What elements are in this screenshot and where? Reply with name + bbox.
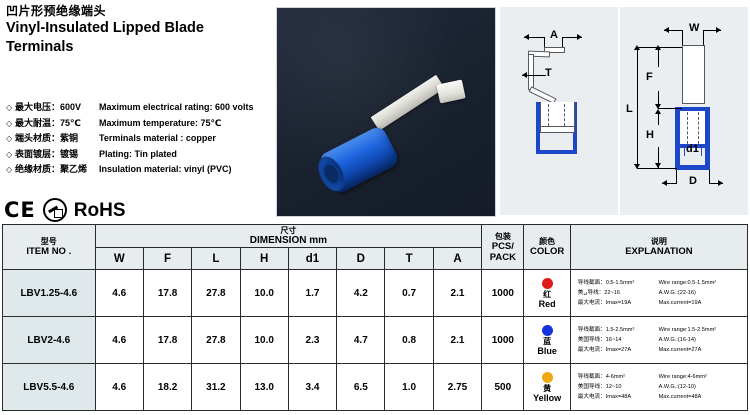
cell-d: 4.7 [337,317,385,364]
spec-item: ◇ 表面镀层：镀锡 Plating: Tin plated [6,147,268,163]
expl-cn-2: 美国导线：16~14 [577,335,658,345]
title-english-line1: Vinyl-Insulated Lipped Blade [6,20,264,37]
expl-en-2: A.W.G.:(16-14) [658,335,745,345]
ext-line-d1-2 [701,145,702,156]
dash-line-3 [687,112,688,144]
cell-color: 黄 Yellow [524,364,570,411]
expl-cn-1: 导线截面：1.5-2.5mm² [577,325,658,335]
expl-en-3: Max.current=48A [658,392,745,402]
cell-l: 27.8 [192,270,240,317]
certification-marks: CE RoHS [4,198,126,222]
title-chinese: 凹片形预绝缘端头 [6,4,264,18]
header-pack: 包装 PCS/ PACK [482,225,524,270]
arrow-down-H [655,163,661,168]
barrel-bottom [536,150,577,154]
cell-d1: 2.3 [288,317,336,364]
color-label-en: Yellow [524,393,569,403]
dim-line-T2 [522,75,532,76]
blade-group [375,88,471,148]
bullet-icon: ◇ [6,165,15,174]
expl-en-3: Max.current=19A [658,298,745,308]
spec-item: ◇ 最大电压：600V Maximum electrical rating: 6… [6,100,268,116]
ext-line-D-1 [676,170,677,184]
header-pack-en-2: PACK [482,252,523,263]
color-dot-icon [542,278,553,289]
dim-label-H: H [646,129,654,141]
product-spec-sheet: 凹片形预绝缘端头 Vinyl-Insulated Lipped Blade Te… [0,0,750,415]
barrel-metal-insert [540,102,575,127]
dim-label-D: D [689,175,697,187]
cell-w: 4.6 [95,317,143,364]
header-color-en: COLOR [524,246,569,257]
expl-cn-3: 最大电流：Imax=19A [577,298,658,308]
product-photo [276,7,496,217]
ext-line-W-2 [703,30,704,45]
blade-shaft [682,51,705,104]
cell-pack: 500 [482,364,524,411]
arrow-right-W [716,27,721,33]
table-row: LBV5.5-4.6 4.6 18.2 31.2 13.0 3.4 6.5 1.… [3,364,748,411]
spec-label-chinese: 最大耐温：75℃ [15,116,99,129]
barrel-crimp-band [540,126,575,133]
bullet-icon: ◇ [6,150,15,159]
dim-label-W: W [689,22,699,34]
cell-l: 27.8 [192,317,240,364]
spec-label-english: Terminals material : copper [99,133,216,143]
cell-w: 4.6 [95,364,143,411]
blade-tip [436,80,465,104]
cell-explanation: 导线截面：0.5-1.5mm² Wire range:0.5-1.5mm² 美ں… [570,270,747,317]
header-dimension-en: DIMENSION mm [96,235,482,246]
cell-t: 0.8 [385,317,433,364]
header-color: 颜色 COLOR [524,225,570,270]
cell-item-no: LBV2-4.6 [3,317,96,364]
table-row: LBV1.25-4.6 4.6 17.8 27.8 10.0 1.7 4.2 0… [3,270,748,317]
dim-line-T [532,75,546,76]
title-english-line2: Terminals [6,39,264,56]
cell-w: 4.6 [95,270,143,317]
title-block: 凹片形预绝缘端头 Vinyl-Insulated Lipped Blade Te… [6,4,264,55]
header-col-h: H [240,248,288,270]
header-dimension: 尺寸 DIMENSION mm [95,225,482,248]
dim-label-T: T [545,67,552,79]
insulation-bottom [675,165,710,170]
side-view-drawing: A T [500,7,618,215]
cell-explanation: 导线截面：1.5-2.5mm² Wire range:1.5-2.5mm² 美国… [570,317,747,364]
spec-item: ◇ 端头材质：紫铜 Terminals material : copper [6,131,268,147]
cell-f: 17.8 [143,270,191,317]
bullet-icon: ◇ [6,103,15,112]
table-header-row-1: 型号 ITEM NO . 尺寸 DIMENSION mm 包装 PCS/ PAC… [3,225,748,248]
front-view-drawing: W d1 D [620,7,748,215]
header-col-d1: d1 [288,248,336,270]
header-color-cn: 颜色 [524,237,569,246]
cell-item-no: LBV1.25-4.6 [3,270,96,317]
cell-l: 31.2 [192,364,240,411]
top-section: 凹片形预绝缘端头 Vinyl-Insulated Lipped Blade Te… [0,0,750,224]
cell-pack: 1000 [482,270,524,317]
ext-line-D-2 [709,170,710,184]
cell-item-no: LBV5.5-4.6 [3,364,96,411]
expl-cn-3: 最大电流：Imax=27A [577,345,658,355]
spec-label-chinese: 端头材质：紫铜 [15,131,99,144]
cell-h: 10.0 [240,270,288,317]
header-item-en: ITEM NO . [3,246,95,257]
header-pack-en-1: PCS/ [482,241,523,252]
cell-color: 蓝 Blue [524,317,570,364]
ce-icon: CE [4,200,36,221]
dash-line-1 [548,104,549,126]
table-row: LBV2-4.6 4.6 17.8 27.8 10.0 2.3 4.7 0.8 … [3,317,748,364]
arrow-left-A [524,34,529,40]
cell-h: 10.0 [240,317,288,364]
header-explanation: 说明 EXPLANATION [570,225,747,270]
spec-label-chinese: 表面镀层：镀锡 [15,147,99,160]
color-label-cn: 红 [524,290,569,299]
cell-a: 2.1 [433,270,481,317]
expl-en-1: Wire range:1.5-2.5mm² [658,325,745,335]
ext-line-L-bottom [637,168,677,169]
cell-d: 6.5 [337,364,385,411]
expl-cn-1: 导线截面：4-6mm² [577,372,658,382]
arrow-up-H [655,109,661,114]
spec-label-english: Maximum electrical rating: 600 volts [99,102,254,112]
color-label-en: Blue [524,346,569,356]
cell-d: 4.2 [337,270,385,317]
color-label-cn: 黄 [524,384,569,393]
cell-h: 13.0 [240,364,288,411]
dash-line-2 [564,104,565,126]
arrow-right-A [577,34,582,40]
cell-d1: 1.7 [288,270,336,317]
arrow-up-F [655,45,661,50]
spec-label-english: Insulation material: vinyl (PVC) [99,164,232,174]
header-item-cn: 型号 [3,237,95,246]
arrow-right-D [718,180,723,186]
spec-label-english: Plating: Tin plated [99,149,177,159]
dim-line-F-top [658,47,659,67]
color-dot-icon [542,325,553,336]
expl-cn-2: 美ں导线：22~16 [577,288,658,298]
dim-line-L [637,47,638,169]
specification-table: 型号 ITEM NO . 尺寸 DIMENSION mm 包装 PCS/ PAC… [2,224,748,411]
header-col-a: A [433,248,481,270]
ext-line-d1-1 [684,145,685,156]
blade-vertical [528,54,534,90]
circle-check-icon [43,198,67,222]
expl-en-1: Wire range:4-6mm² [658,372,745,382]
spec-label-chinese: 最大电压：600V [15,100,99,113]
dim-label-A: A [550,29,558,41]
specification-list: ◇ 最大电压：600V Maximum electrical rating: 6… [6,100,268,178]
expl-cn-2: 美国导线：12~10 [577,382,658,392]
header-col-t: T [385,248,433,270]
cell-t: 0.7 [385,270,433,317]
header-dimension-cn: 尺寸 [96,226,482,235]
color-label-cn: 蓝 [524,337,569,346]
header-col-f: F [143,248,191,270]
cell-a: 2.1 [433,317,481,364]
cell-explanation: 导线截面：4-6mm² Wire range:4-6mm² 美国导线：12~10… [570,364,747,411]
cell-t: 1.0 [385,364,433,411]
spec-item: ◇ 最大耐温：75℃ Maximum temperature: 75℃ [6,116,268,132]
header-col-d: D [337,248,385,270]
expl-en-2: A.W.G.:(22-16) [658,288,745,298]
dash-line-4 [698,112,699,144]
terminal-product-image [313,86,463,196]
expl-en-2: A.W.G.:(12-10) [658,382,745,392]
spec-item: ◇ 绝缘材质：聚乙烯 Insulation material: vinyl (P… [6,162,268,178]
cell-pack: 1000 [482,317,524,364]
arrow-left-D [662,180,667,186]
ext-line-F-bottom [658,108,682,109]
expl-cn-3: 最大电流：Imax=48A [577,392,658,402]
cell-f: 18.2 [143,364,191,411]
expl-en-3: Max.current=27A [658,345,745,355]
header-pack-cn: 包装 [482,232,523,241]
cell-f: 17.8 [143,317,191,364]
header-item-no: 型号 ITEM NO . [3,225,96,270]
bullet-icon: ◇ [6,134,15,143]
insulation-right-wall [705,107,710,169]
crimp-barrel [680,111,705,145]
rohs-icon: RoHS [74,201,126,220]
ext-line-W-1 [682,30,683,45]
arrow-left-W [664,27,669,33]
header-explanation-en: EXPLANATION [571,246,747,257]
spec-label-english: Maximum temperature: 75℃ [99,118,221,129]
dim-label-d1: d1 [686,143,699,155]
color-dot-icon [542,372,553,383]
header-col-w: W [95,248,143,270]
expl-cn-1: 导线截面：0.5-1.5mm² [577,278,658,288]
header-col-l: L [192,248,240,270]
spec-label-chinese: 绝缘材质：聚乙烯 [15,162,99,175]
cell-color: 红 Red [524,270,570,317]
cell-a: 2.75 [433,364,481,411]
color-label-en: Red [524,299,569,309]
dim-label-F: F [646,71,653,83]
bullet-icon: ◇ [6,119,15,128]
header-explanation-cn: 说明 [571,237,747,246]
dim-label-L: L [626,103,633,115]
expl-en-1: Wire range:0.5-1.5mm² [658,278,745,288]
cell-d1: 3.4 [288,364,336,411]
